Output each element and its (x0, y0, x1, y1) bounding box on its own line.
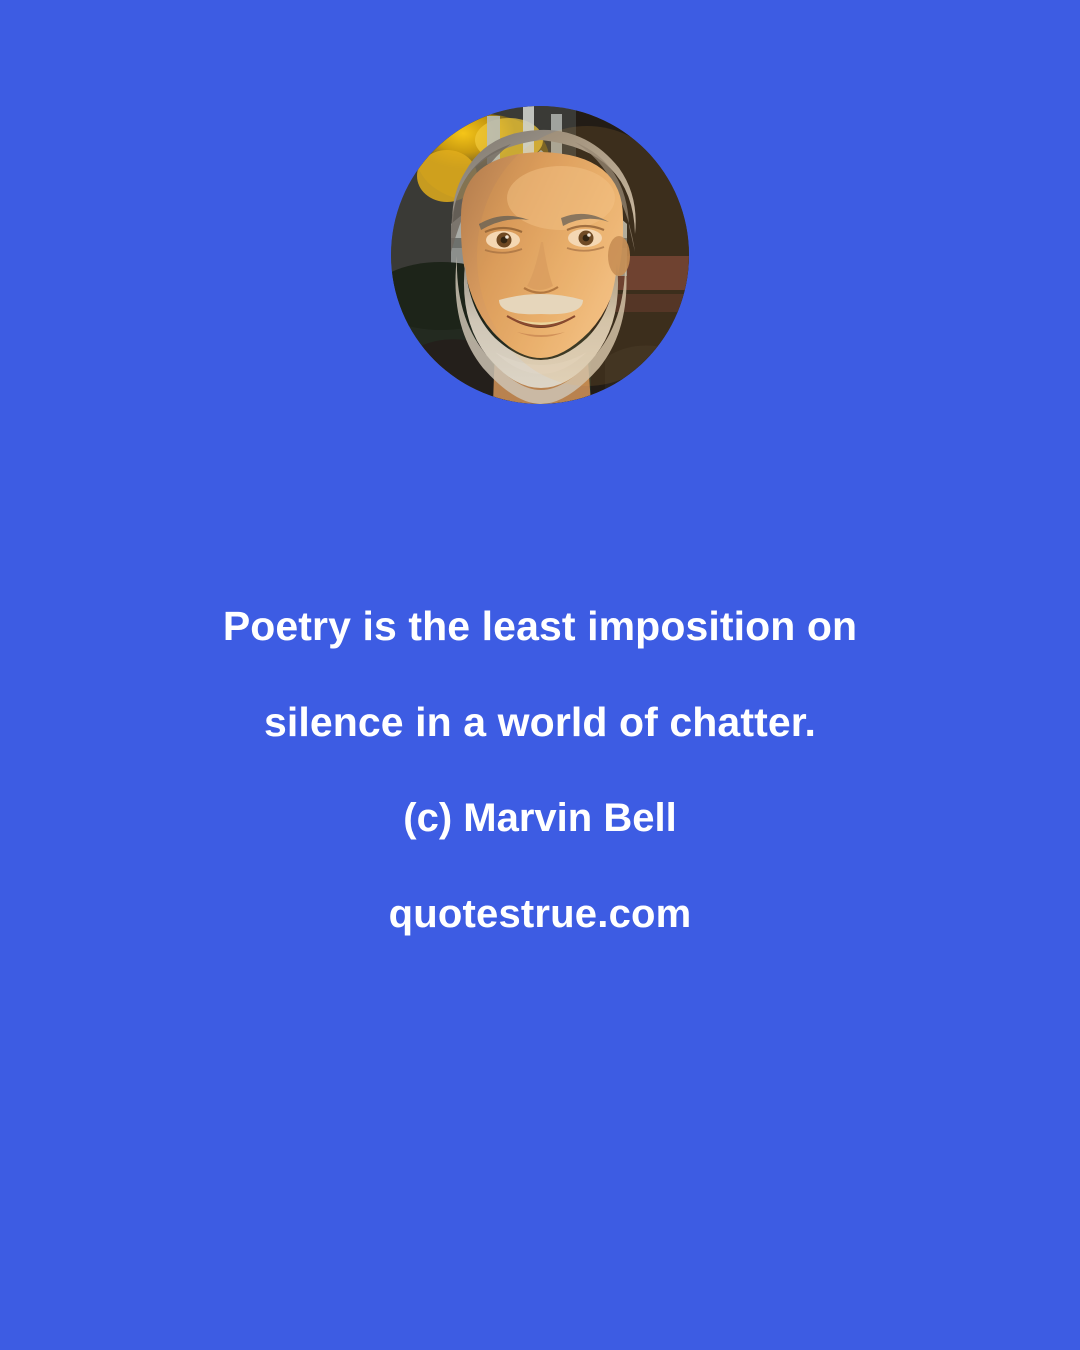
avatar (391, 106, 689, 404)
source-website: quotestrue.com (0, 866, 1080, 962)
quote-card: Poetry is the least imposition on silenc… (0, 0, 1080, 1350)
quote-attribution: (c) Marvin Bell (0, 770, 1080, 866)
portrait-photo-icon (391, 106, 689, 404)
quote-text-block: Poetry is the least imposition on silenc… (0, 578, 1080, 962)
quote-line-1: Poetry is the least imposition on (0, 578, 1080, 674)
quote-line-2: silence in a world of chatter. (0, 674, 1080, 770)
